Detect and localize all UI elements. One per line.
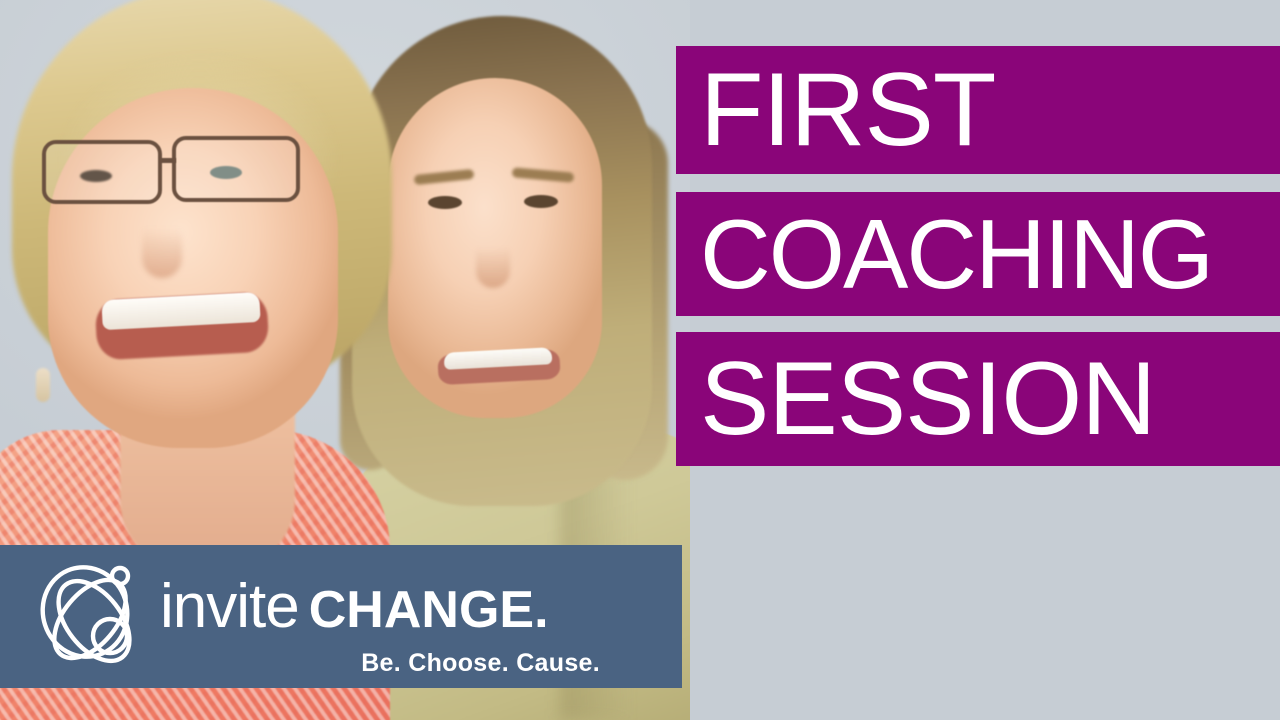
person-left-nose (142, 212, 182, 278)
eyeglasses-bridge (160, 158, 176, 163)
title-text-line-3: SESSION (700, 347, 1155, 451)
eyeglasses-lens-right (172, 136, 300, 202)
brand-word-change: CHANGE. (309, 581, 549, 639)
person-right-eye-right (524, 195, 558, 208)
person-left-earring (36, 368, 50, 402)
brand-word-invite: invite (160, 572, 299, 641)
brand-wordmark: inviteCHANGE. (160, 571, 549, 642)
title-banner-line-3: SESSION (676, 332, 1280, 466)
thumbnail-canvas: FIRST COACHING SESSION inviteCHANGE. Be.… (0, 0, 1280, 720)
brand-logo-bar: inviteCHANGE. Be. Choose. Cause. (0, 545, 682, 688)
person-right-nose (476, 230, 510, 288)
eyeglasses-lens-left (42, 140, 162, 204)
title-banner-line-2: COACHING (676, 192, 1280, 316)
person-right-eye-left (428, 196, 462, 209)
title-banner-line-1: FIRST (676, 46, 1280, 174)
title-text-line-1: FIRST (700, 58, 995, 162)
invite-change-atom-mark-icon (32, 559, 154, 675)
title-text-line-2: COACHING (700, 205, 1212, 303)
brand-tagline: Be. Choose. Cause. (361, 649, 600, 678)
